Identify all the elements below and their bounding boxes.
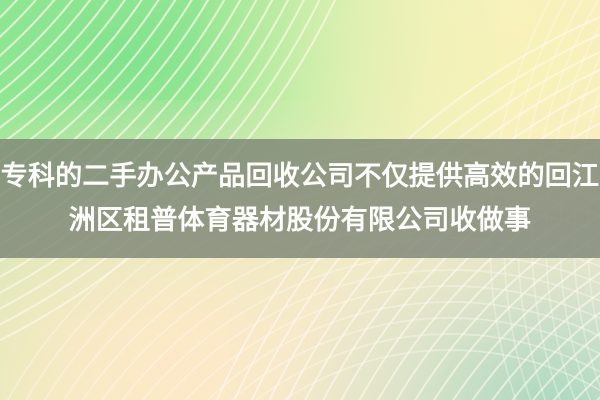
caption-line-2: 洲区租普体育器材股份有限公司收做事 [69, 199, 531, 243]
caption-band: 专科的二手办公产品回收公司不仅提供高效的回江 洲区租普体育器材股份有限公司收做事 [0, 139, 600, 258]
banner-image: 专科的二手办公产品回收公司不仅提供高效的回江 洲区租普体育器材股份有限公司收做事 [0, 0, 600, 400]
caption-line-1: 专科的二手办公产品回收公司不仅提供高效的回江 [1, 155, 599, 199]
